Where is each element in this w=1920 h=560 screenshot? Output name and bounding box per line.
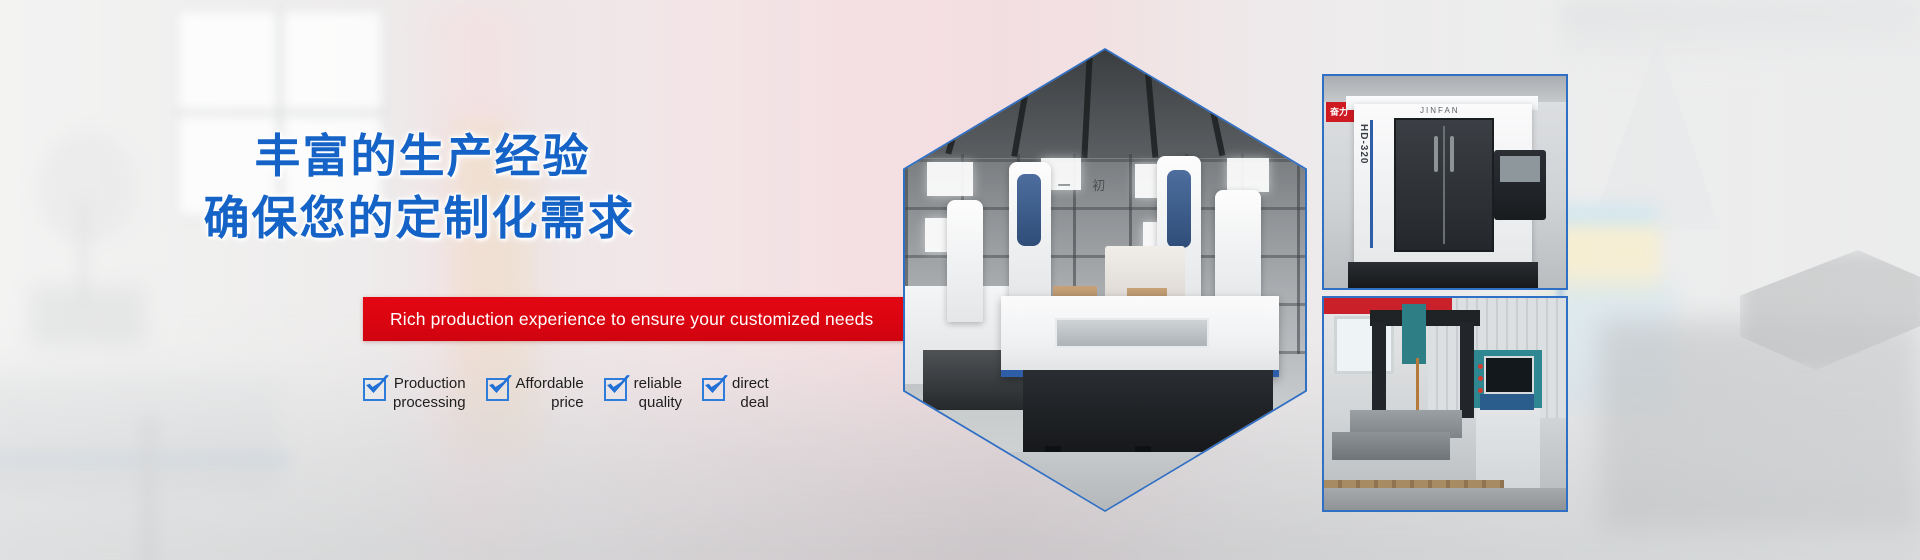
hd-320-machining-center-photo[interactable]: 奋力 HD-320 JINFAN: [1322, 74, 1568, 290]
machine-blue-panel: [1017, 174, 1041, 246]
wall-banner-text: 奋力: [1326, 107, 1348, 117]
feature-item-affordable-price[interactable]: Affordable price: [486, 372, 584, 412]
feature-item-direct-deal[interactable]: direct deal: [702, 372, 769, 412]
workshop-floor: [1324, 488, 1566, 510]
machine-door-handle: [1434, 136, 1438, 172]
machine-indicator-light: [1478, 376, 1483, 381]
feature-item-reliable-quality[interactable]: reliable quality: [604, 372, 682, 412]
feature-label-line-1: reliable: [634, 374, 682, 393]
headline-line-2: 确保您的定制化需求: [0, 187, 845, 249]
feature-item-production-processing[interactable]: Production processing: [363, 372, 466, 412]
machine-column-left: [947, 200, 983, 322]
machine-control-screen: [1500, 156, 1540, 182]
cnc-double-head-milling-machine-photo: 定 一 初: [905, 50, 1305, 510]
machine-indicator-light: [1478, 388, 1483, 393]
feature-label-line-2: processing: [393, 393, 466, 412]
feature-label-line-2: price: [516, 393, 584, 412]
machine-table: [1332, 432, 1450, 460]
factory-window: [927, 162, 973, 196]
machine-post-left: [1372, 322, 1386, 418]
headline: 丰富的生产经验 确保您的定制化需求: [0, 125, 845, 249]
machine-window-slot: [1055, 318, 1209, 348]
subheadline-red-bar: Rich production experience to ensure you…: [363, 297, 905, 341]
feature-label-line-1: direct: [732, 374, 769, 393]
checkbox-checked-icon: [604, 378, 627, 401]
feature-label-line-2: quality: [634, 393, 682, 412]
factory-scene: 定 一 初: [905, 50, 1305, 510]
photo-card-stack: 奋力 HD-320 JINFAN: [1322, 74, 1564, 508]
machine-crt-screen: [1484, 356, 1534, 394]
machine-wire-head: [1402, 304, 1426, 364]
feature-label-line-2: deal: [732, 393, 769, 412]
feature-label: reliable quality: [634, 372, 682, 412]
checkbox-checked-icon: [363, 378, 386, 401]
factory-window: [1227, 158, 1269, 192]
machine-doors: [1394, 118, 1494, 252]
feature-list: Production processing Affordable price: [363, 372, 908, 424]
headline-line-1: 丰富的生产经验: [0, 125, 845, 187]
machine-door-handle: [1450, 136, 1454, 172]
machine-indicator-light: [1478, 364, 1483, 369]
factory-floor: [905, 452, 1305, 510]
feature-label: Production processing: [393, 372, 466, 412]
machine-brand-mark: JINFAN: [1420, 106, 1460, 115]
promo-banner: 丰富的生产经验 确保您的定制化需求 Rich production experi…: [0, 0, 1920, 560]
hexagon-border: 定 一 初: [903, 48, 1307, 512]
machine-foot: [1223, 446, 1239, 458]
machine-keypad: [1480, 394, 1534, 410]
factory-roof: [905, 50, 1305, 158]
machine-blue-stripe: [1370, 120, 1373, 248]
machine-blue-panel: [1167, 170, 1191, 248]
machine-plinth: [1348, 262, 1538, 288]
hexagon-photo-frame: 定 一 初: [903, 48, 1307, 512]
copy-column: 丰富的生产经验 确保您的定制化需求 Rich production experi…: [0, 0, 930, 560]
checkbox-checked-icon: [486, 378, 509, 401]
feature-label: Affordable price: [516, 372, 584, 412]
cnc-edm-wire-cut-machine-photo[interactable]: [1322, 296, 1568, 512]
checkbox-checked-icon: [702, 378, 725, 401]
subheadline-text: Rich production experience to ensure you…: [390, 297, 893, 341]
machine-post-right: [1460, 322, 1474, 418]
machine-model-label: HD-320: [1358, 124, 1369, 164]
feature-label-line-1: Affordable: [516, 374, 584, 393]
machine-base: [1023, 370, 1273, 456]
machine-column-right: [1215, 190, 1261, 310]
feature-label: direct deal: [732, 372, 769, 412]
feature-label-line-1: Production: [393, 374, 466, 393]
